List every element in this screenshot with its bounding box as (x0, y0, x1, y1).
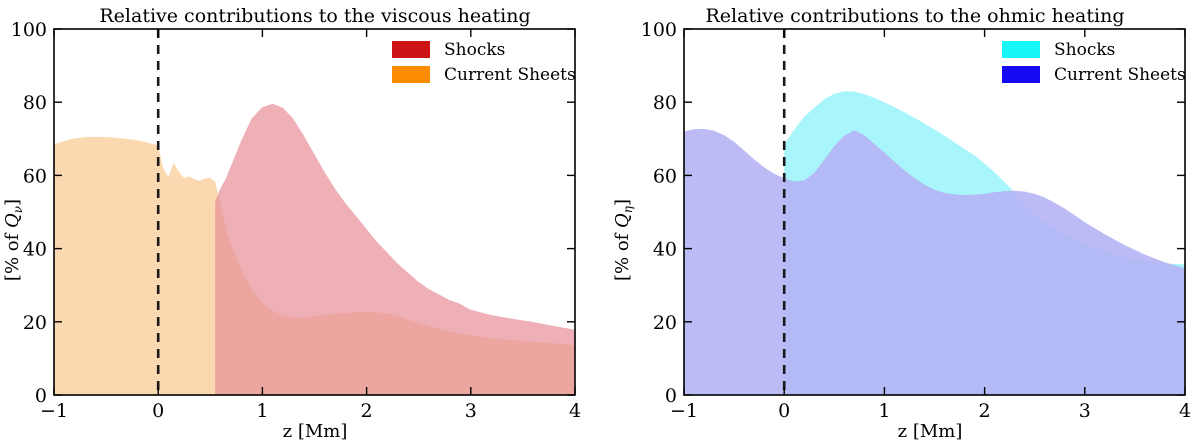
yaxis-label-viscous: [% of Qν] (2, 199, 25, 281)
yaxis-label-ohmic: [% of Qη] (612, 199, 635, 281)
ytick-label-20: 20 (653, 312, 677, 334)
xtick-label-0: 0 (152, 400, 164, 422)
legend-swatch-shocks (1002, 41, 1040, 58)
xtick-label-3: 3 (465, 400, 477, 422)
legend-swatch-current-sheets (1002, 66, 1040, 83)
yaxis-label-sub: ν (11, 206, 25, 213)
ytick-label-20: 20 (23, 312, 47, 334)
area-shocks-viscous (215, 104, 575, 395)
yaxis-label-suffix: ] (612, 199, 633, 206)
legend-label-shocks: Shocks (444, 40, 505, 60)
yaxis-label-symbol: Q (612, 213, 633, 228)
xtick-label-4: 4 (1179, 400, 1191, 422)
viscous-plot-svg: Relative contributions to the viscous he… (0, 0, 600, 440)
panel-title-viscous: Relative contributions to the viscous he… (99, 5, 530, 27)
legend-swatch-shocks (392, 41, 430, 58)
xtick-label-0: 0 (778, 400, 790, 422)
ytick-label-100: 100 (641, 19, 677, 41)
panel-ohmic-heating: Relative contributions to the ohmic heat… (600, 0, 1200, 440)
xtick-label-2: 2 (361, 400, 373, 422)
legend-label-shocks: Shocks (1054, 40, 1115, 60)
yaxis-label-prefix: [% of (2, 228, 23, 281)
ytick-label-100: 100 (11, 19, 47, 41)
legend-ohmic: Shocks Current Sheets (993, 33, 1186, 91)
xtick-label-4: 4 (569, 400, 581, 422)
panel-title-ohmic: Relative contributions to the ohmic heat… (705, 5, 1124, 27)
xtick-label-2: 2 (979, 400, 991, 422)
legend-label-current-sheets: Current Sheets (1054, 65, 1186, 85)
legend-swatch-current-sheets (392, 66, 430, 83)
ytick-label-40: 40 (653, 239, 677, 261)
xtick-label-1: 1 (256, 400, 268, 422)
xtick-label-1: 1 (878, 400, 890, 422)
legend-label-current-sheets: Current Sheets (444, 65, 576, 85)
legend-viscous: Shocks Current Sheets (383, 33, 576, 91)
xaxis-label-viscous: z [Mm] (283, 421, 348, 440)
ytick-label-60: 60 (653, 165, 677, 187)
panel-viscous-heating: Relative contributions to the viscous he… (0, 0, 600, 440)
figure-container: Relative contributions to the viscous he… (0, 0, 1200, 440)
yaxis-label-symbol: Q (2, 213, 23, 228)
xtick-label-m1: −1 (670, 400, 698, 422)
ytick-label-80: 80 (653, 92, 677, 114)
xaxis-label-ohmic: z [Mm] (898, 421, 963, 440)
ohmic-data-area (684, 91, 1185, 395)
xtick-label-3: 3 (1079, 400, 1091, 422)
ytick-label-60: 60 (23, 165, 47, 187)
ohmic-plot-svg: Relative contributions to the ohmic heat… (600, 0, 1200, 440)
xtick-label-m1: −1 (40, 400, 68, 422)
ytick-label-40: 40 (23, 239, 47, 261)
yaxis-label-prefix: [% of (612, 228, 633, 281)
svg-text:[% of Qη]: [% of Qη] (612, 199, 635, 281)
viscous-data-area (54, 104, 575, 395)
yaxis-label-suffix: ] (2, 199, 23, 206)
svg-text:[% of Qν]: [% of Qν] (2, 199, 25, 281)
ytick-label-80: 80 (23, 92, 47, 114)
